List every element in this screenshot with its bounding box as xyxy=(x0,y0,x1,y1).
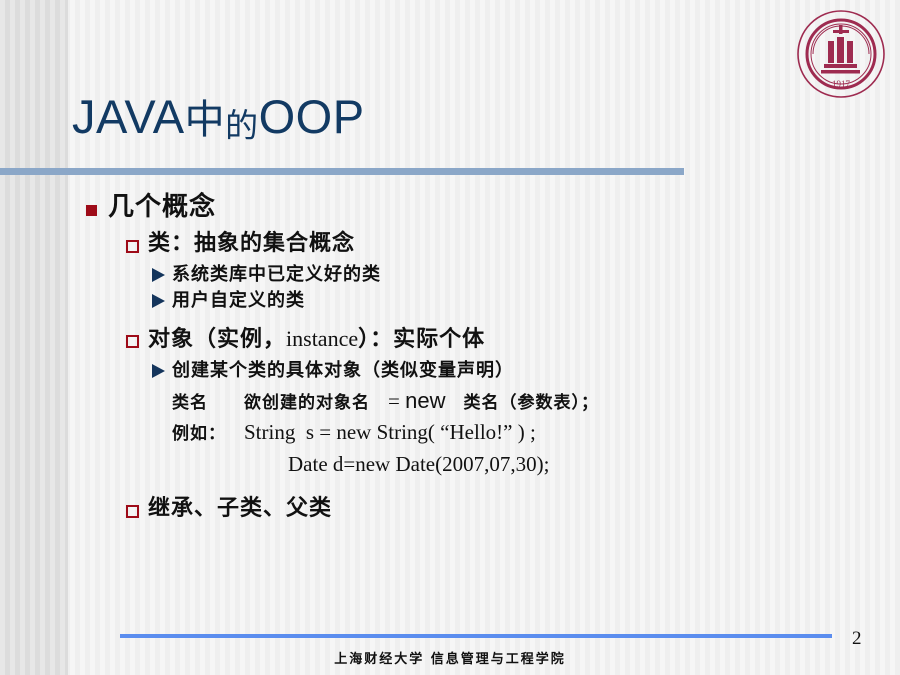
bullet-level2-class-label: 类：抽象的集合概念 xyxy=(148,229,355,260)
object-label-latin: instance xyxy=(286,326,358,351)
title-cjk-1: 中 xyxy=(185,97,226,143)
arrow-bullet-icon xyxy=(152,262,172,282)
bullet-level3-label-3: 创建某个类的具体对象（类似变量声明） xyxy=(172,358,514,384)
footer-text: 上海财经大学 信息管理与工程学院 xyxy=(0,648,900,667)
page-title: JAVA中的OOP xyxy=(72,92,365,141)
bullet-item-level1-concepts: 几个概念 xyxy=(86,190,900,225)
square-hollow-bullet-icon xyxy=(126,494,148,523)
university-seal-logo: 1917 xyxy=(795,8,887,100)
page-number: 2 xyxy=(852,628,862,650)
bullet-item-level3-create-object: 创建某个类的具体对象（类似变量声明） xyxy=(152,358,900,384)
square-filled-bullet-icon xyxy=(86,190,108,221)
example-label: 例如： xyxy=(172,424,226,444)
bullet-item-level2-object: 对象（实例，instance）：实际个体 xyxy=(126,324,900,356)
svg-text:1917: 1917 xyxy=(832,79,851,89)
bullet-level2-inheritance-label: 继承、子类、父类 xyxy=(148,494,332,525)
bullet-level1-label: 几个概念 xyxy=(108,190,216,225)
title-latin-1: JAVA xyxy=(72,90,185,143)
title-cjk-2: 的 xyxy=(225,106,259,145)
bullet-item-level2-inheritance: 继承、子类、父类 xyxy=(126,494,900,525)
title-underline-rule xyxy=(0,168,684,175)
bullet-level3-label-2: 用户自定义的类 xyxy=(172,288,305,314)
example-line-1: 例如：String s = new String( “Hello!” ) ; xyxy=(172,417,900,449)
bullet-level2-object-label: 对象（实例，instance）：实际个体 xyxy=(148,324,485,356)
footer-rule xyxy=(120,634,832,638)
example-code-1: String s = new String( “Hello!” ) ; xyxy=(244,420,536,444)
arrow-bullet-icon xyxy=(152,358,172,378)
square-hollow-bullet-icon xyxy=(126,324,148,353)
object-label-cjk-suffix: ）：实际个体 xyxy=(358,327,485,352)
bullet-item-level3-system-class-library: 系统类库中已定义好的类 xyxy=(152,262,900,288)
slide-body: 几个概念 类：抽象的集合概念 系统类库中已定义好的类 用户自定义的类 对象（实例… xyxy=(0,190,900,527)
title-latin-2: OOP xyxy=(259,90,365,143)
bullet-item-level2-class: 类：抽象的集合概念 xyxy=(126,229,900,260)
syntax-keyword-new: new xyxy=(405,388,445,413)
bullet-item-level3-user-defined-class: 用户自定义的类 xyxy=(152,288,900,314)
square-hollow-bullet-icon xyxy=(126,229,148,258)
bullet-level3-label-1: 系统类库中已定义好的类 xyxy=(172,262,381,288)
example-code-2: Date d=new Date(2007,07,30); xyxy=(288,452,549,476)
slide-canvas: 1917 JAVA中的OOP 几个概念 类：抽象的集合概念 系统类库中已定义好的… xyxy=(0,0,900,675)
arrow-bullet-icon xyxy=(152,288,172,308)
syntax-part-1: 类名 欲创建的对象名 xyxy=(172,393,388,413)
syntax-part-2: 类名（参数表）； xyxy=(445,393,599,413)
syntax-equals: = xyxy=(388,389,405,413)
syntax-template-line: 类名 欲创建的对象名 = new 类名（参数表）； xyxy=(172,384,900,418)
example-line-2: Date d=new Date(2007,07,30); xyxy=(288,449,900,481)
object-label-cjk-prefix: 对象（实例， xyxy=(148,327,286,352)
